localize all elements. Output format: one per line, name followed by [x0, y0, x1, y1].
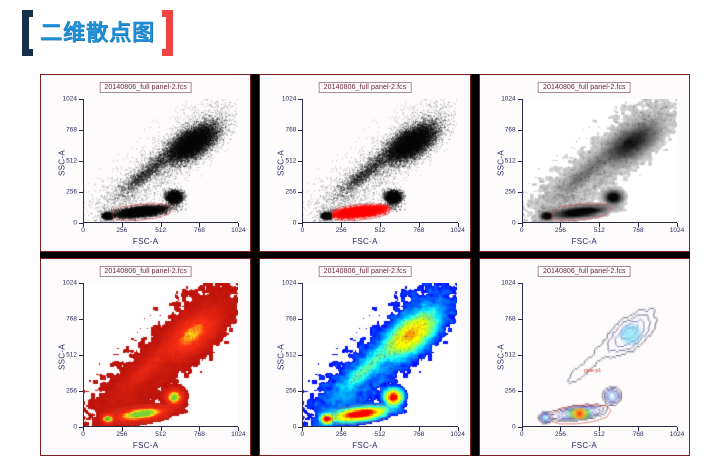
- y-tick: [298, 130, 302, 131]
- x-axis-label: FSC-A: [133, 237, 159, 246]
- y-tick-label: 1024: [282, 280, 296, 287]
- y-tick: [518, 99, 522, 100]
- panel-title: 20140806_full panel-2.fcs: [319, 82, 412, 93]
- scatter-canvas: [83, 283, 238, 427]
- plot-area: 0256512768102402565127681024: [302, 283, 457, 427]
- y-tick-label: 512: [285, 352, 296, 359]
- y-tick-label: 256: [66, 388, 77, 395]
- y-tick-label: 0: [73, 424, 77, 431]
- scatter-canvas: [302, 99, 457, 223]
- y-tick: [298, 99, 302, 100]
- plot-area: 0256512768102402565127681024: [302, 99, 457, 223]
- y-tick-label: 512: [66, 352, 77, 359]
- plot-panel-1[interactable]: 20140806_full panel-2.fcs SSC-A FSC-A 02…: [40, 74, 251, 252]
- x-tick-label: 0: [520, 431, 524, 438]
- y-tick-label: 256: [285, 189, 296, 196]
- y-tick-label: 0: [293, 220, 297, 227]
- y-tick: [518, 161, 522, 162]
- y-tick-label: 0: [73, 220, 77, 227]
- x-tick-label: 256: [116, 431, 127, 438]
- y-tick-label: 1024: [501, 280, 515, 287]
- scatter-canvas: [522, 99, 677, 223]
- y-tick: [518, 391, 522, 392]
- x-tick-label: 768: [413, 227, 424, 234]
- y-tick-label: 1024: [282, 96, 296, 103]
- x-tick-label: 0: [81, 227, 85, 234]
- plot-panel-2[interactable]: 20140806_full panel-2.fcs SSC-A FSC-A 02…: [259, 74, 470, 252]
- y-tick-label: 512: [505, 352, 516, 359]
- y-axis-line: [83, 99, 84, 223]
- y-tick: [79, 161, 83, 162]
- y-tick: [518, 283, 522, 284]
- y-tick: [79, 130, 83, 131]
- y-axis-label: SSC-A: [277, 344, 286, 370]
- plot-panel-4[interactable]: 20140806_full panel-2.fcs SSC-A FSC-A 02…: [40, 258, 251, 456]
- y-tick: [298, 283, 302, 284]
- scatter-canvas-holder: [302, 283, 457, 427]
- y-tick: [518, 192, 522, 193]
- y-axis-line: [522, 99, 523, 223]
- page-title: 二维散点图: [33, 10, 162, 56]
- x-tick-label: 512: [155, 431, 166, 438]
- x-axis-label: FSC-A: [572, 441, 598, 450]
- y-tick: [518, 319, 522, 320]
- panel-title: 20140806_full panel-2.fcs: [99, 266, 192, 277]
- y-axis-line: [302, 99, 303, 223]
- right-bracket-decoration: [162, 10, 173, 56]
- title-decoration: 二维散点图: [22, 9, 173, 57]
- x-axis-label: FSC-A: [133, 441, 159, 450]
- y-tick-label: 512: [285, 158, 296, 165]
- y-tick: [298, 161, 302, 162]
- x-tick-label: 0: [301, 227, 305, 234]
- y-tick-label: 768: [285, 316, 296, 323]
- x-tick-label: 1024: [670, 227, 684, 234]
- x-tick-label: 0: [520, 227, 524, 234]
- scatter-canvas: [302, 283, 457, 427]
- scatter-plot-grid: 20140806_full panel-2.fcs SSC-A FSC-A 02…: [40, 74, 690, 456]
- plot-area: 0256512768102402565127681024: [522, 283, 677, 427]
- y-tick-label: 256: [505, 189, 516, 196]
- y-tick-label: 768: [285, 127, 296, 134]
- x-tick-label: 0: [301, 431, 305, 438]
- y-tick: [298, 192, 302, 193]
- y-axis-label: SSC-A: [496, 344, 505, 370]
- y-tick-label: 512: [66, 158, 77, 165]
- x-tick-label: 1024: [231, 431, 245, 438]
- y-tick: [79, 192, 83, 193]
- scatter-canvas-holder: [302, 99, 457, 223]
- x-tick-label: 256: [336, 227, 347, 234]
- left-bracket-decoration: [22, 10, 33, 56]
- plot-area: 0256512768102402565127681024: [83, 283, 238, 427]
- plot-area: 0256512768102402565127681024: [522, 99, 677, 223]
- y-tick-label: 1024: [63, 280, 77, 287]
- x-tick-label: 512: [375, 227, 386, 234]
- x-tick-label: 256: [116, 227, 127, 234]
- y-axis-line: [522, 283, 523, 427]
- y-tick: [298, 391, 302, 392]
- y-axis-label: SSC-A: [57, 150, 66, 176]
- y-axis-line: [83, 283, 84, 427]
- x-tick-label: 1024: [670, 431, 684, 438]
- y-tick: [79, 99, 83, 100]
- x-tick-label: 768: [633, 431, 644, 438]
- y-axis-label: SSC-A: [57, 344, 66, 370]
- y-axis-label: SSC-A: [277, 150, 286, 176]
- panel-title: 20140806_full panel-2.fcs: [538, 266, 631, 277]
- plot-panel-3[interactable]: 20140806_full panel-2.fcs SSC-A FSC-A 02…: [479, 74, 690, 252]
- y-tick-label: 768: [66, 316, 77, 323]
- y-axis-label: SSC-A: [496, 150, 505, 176]
- y-tick-label: 256: [66, 189, 77, 196]
- panel-title: 20140806_full panel-2.fcs: [538, 82, 631, 93]
- y-tick: [79, 319, 83, 320]
- x-tick-label: 1024: [450, 227, 464, 234]
- y-tick-label: 0: [293, 424, 297, 431]
- scatter-canvas-holder: [83, 283, 238, 427]
- scatter-canvas-holder: [522, 283, 677, 427]
- x-tick-label: 1024: [231, 227, 245, 234]
- scatter-canvas: [83, 99, 238, 223]
- x-tick-label: 512: [594, 431, 605, 438]
- y-tick: [79, 355, 83, 356]
- y-tick: [518, 130, 522, 131]
- scatter-canvas-holder: [83, 99, 238, 223]
- x-tick-label: 256: [555, 227, 566, 234]
- y-tick-label: 256: [285, 388, 296, 395]
- y-axis-line: [302, 283, 303, 427]
- x-tick-label: 256: [336, 431, 347, 438]
- y-tick-label: 0: [512, 424, 516, 431]
- x-axis-label: FSC-A: [352, 441, 378, 450]
- y-tick: [518, 355, 522, 356]
- plot-panel-5[interactable]: 20140806_full panel-2.fcs SSC-A FSC-A 02…: [259, 258, 470, 456]
- x-tick-label: 256: [555, 431, 566, 438]
- y-tick: [298, 319, 302, 320]
- x-axis-label: FSC-A: [352, 237, 378, 246]
- y-tick-label: 1024: [63, 96, 77, 103]
- x-axis-label: FSC-A: [572, 237, 598, 246]
- y-tick-label: 768: [505, 316, 516, 323]
- y-tick-label: 1024: [501, 96, 515, 103]
- plot-area: 0256512768102402565127681024: [83, 99, 238, 223]
- plot-panel-6[interactable]: 20140806_full panel-2.fcs SSC-A FSC-A 02…: [479, 258, 690, 456]
- y-tick-label: 768: [505, 127, 516, 134]
- scatter-canvas: [522, 283, 677, 427]
- y-tick-label: 256: [505, 388, 516, 395]
- x-tick-label: 0: [81, 431, 85, 438]
- panel-title: 20140806_full panel-2.fcs: [99, 82, 192, 93]
- x-tick-label: 768: [194, 431, 205, 438]
- y-tick-label: 0: [512, 220, 516, 227]
- y-tick: [79, 391, 83, 392]
- x-tick-label: 768: [633, 227, 644, 234]
- y-tick: [298, 355, 302, 356]
- x-tick-label: 1024: [450, 431, 464, 438]
- panel-title: 20140806_full panel-2.fcs: [319, 266, 412, 277]
- y-tick-label: 768: [66, 127, 77, 134]
- y-tick: [79, 283, 83, 284]
- y-tick-label: 512: [505, 158, 516, 165]
- x-tick-label: 768: [194, 227, 205, 234]
- x-tick-label: 768: [413, 431, 424, 438]
- x-tick-label: 512: [375, 431, 386, 438]
- page-header: 二维散点图: [0, 0, 710, 74]
- x-tick-label: 512: [594, 227, 605, 234]
- scatter-canvas-holder: [522, 99, 677, 223]
- x-tick-label: 512: [155, 227, 166, 234]
